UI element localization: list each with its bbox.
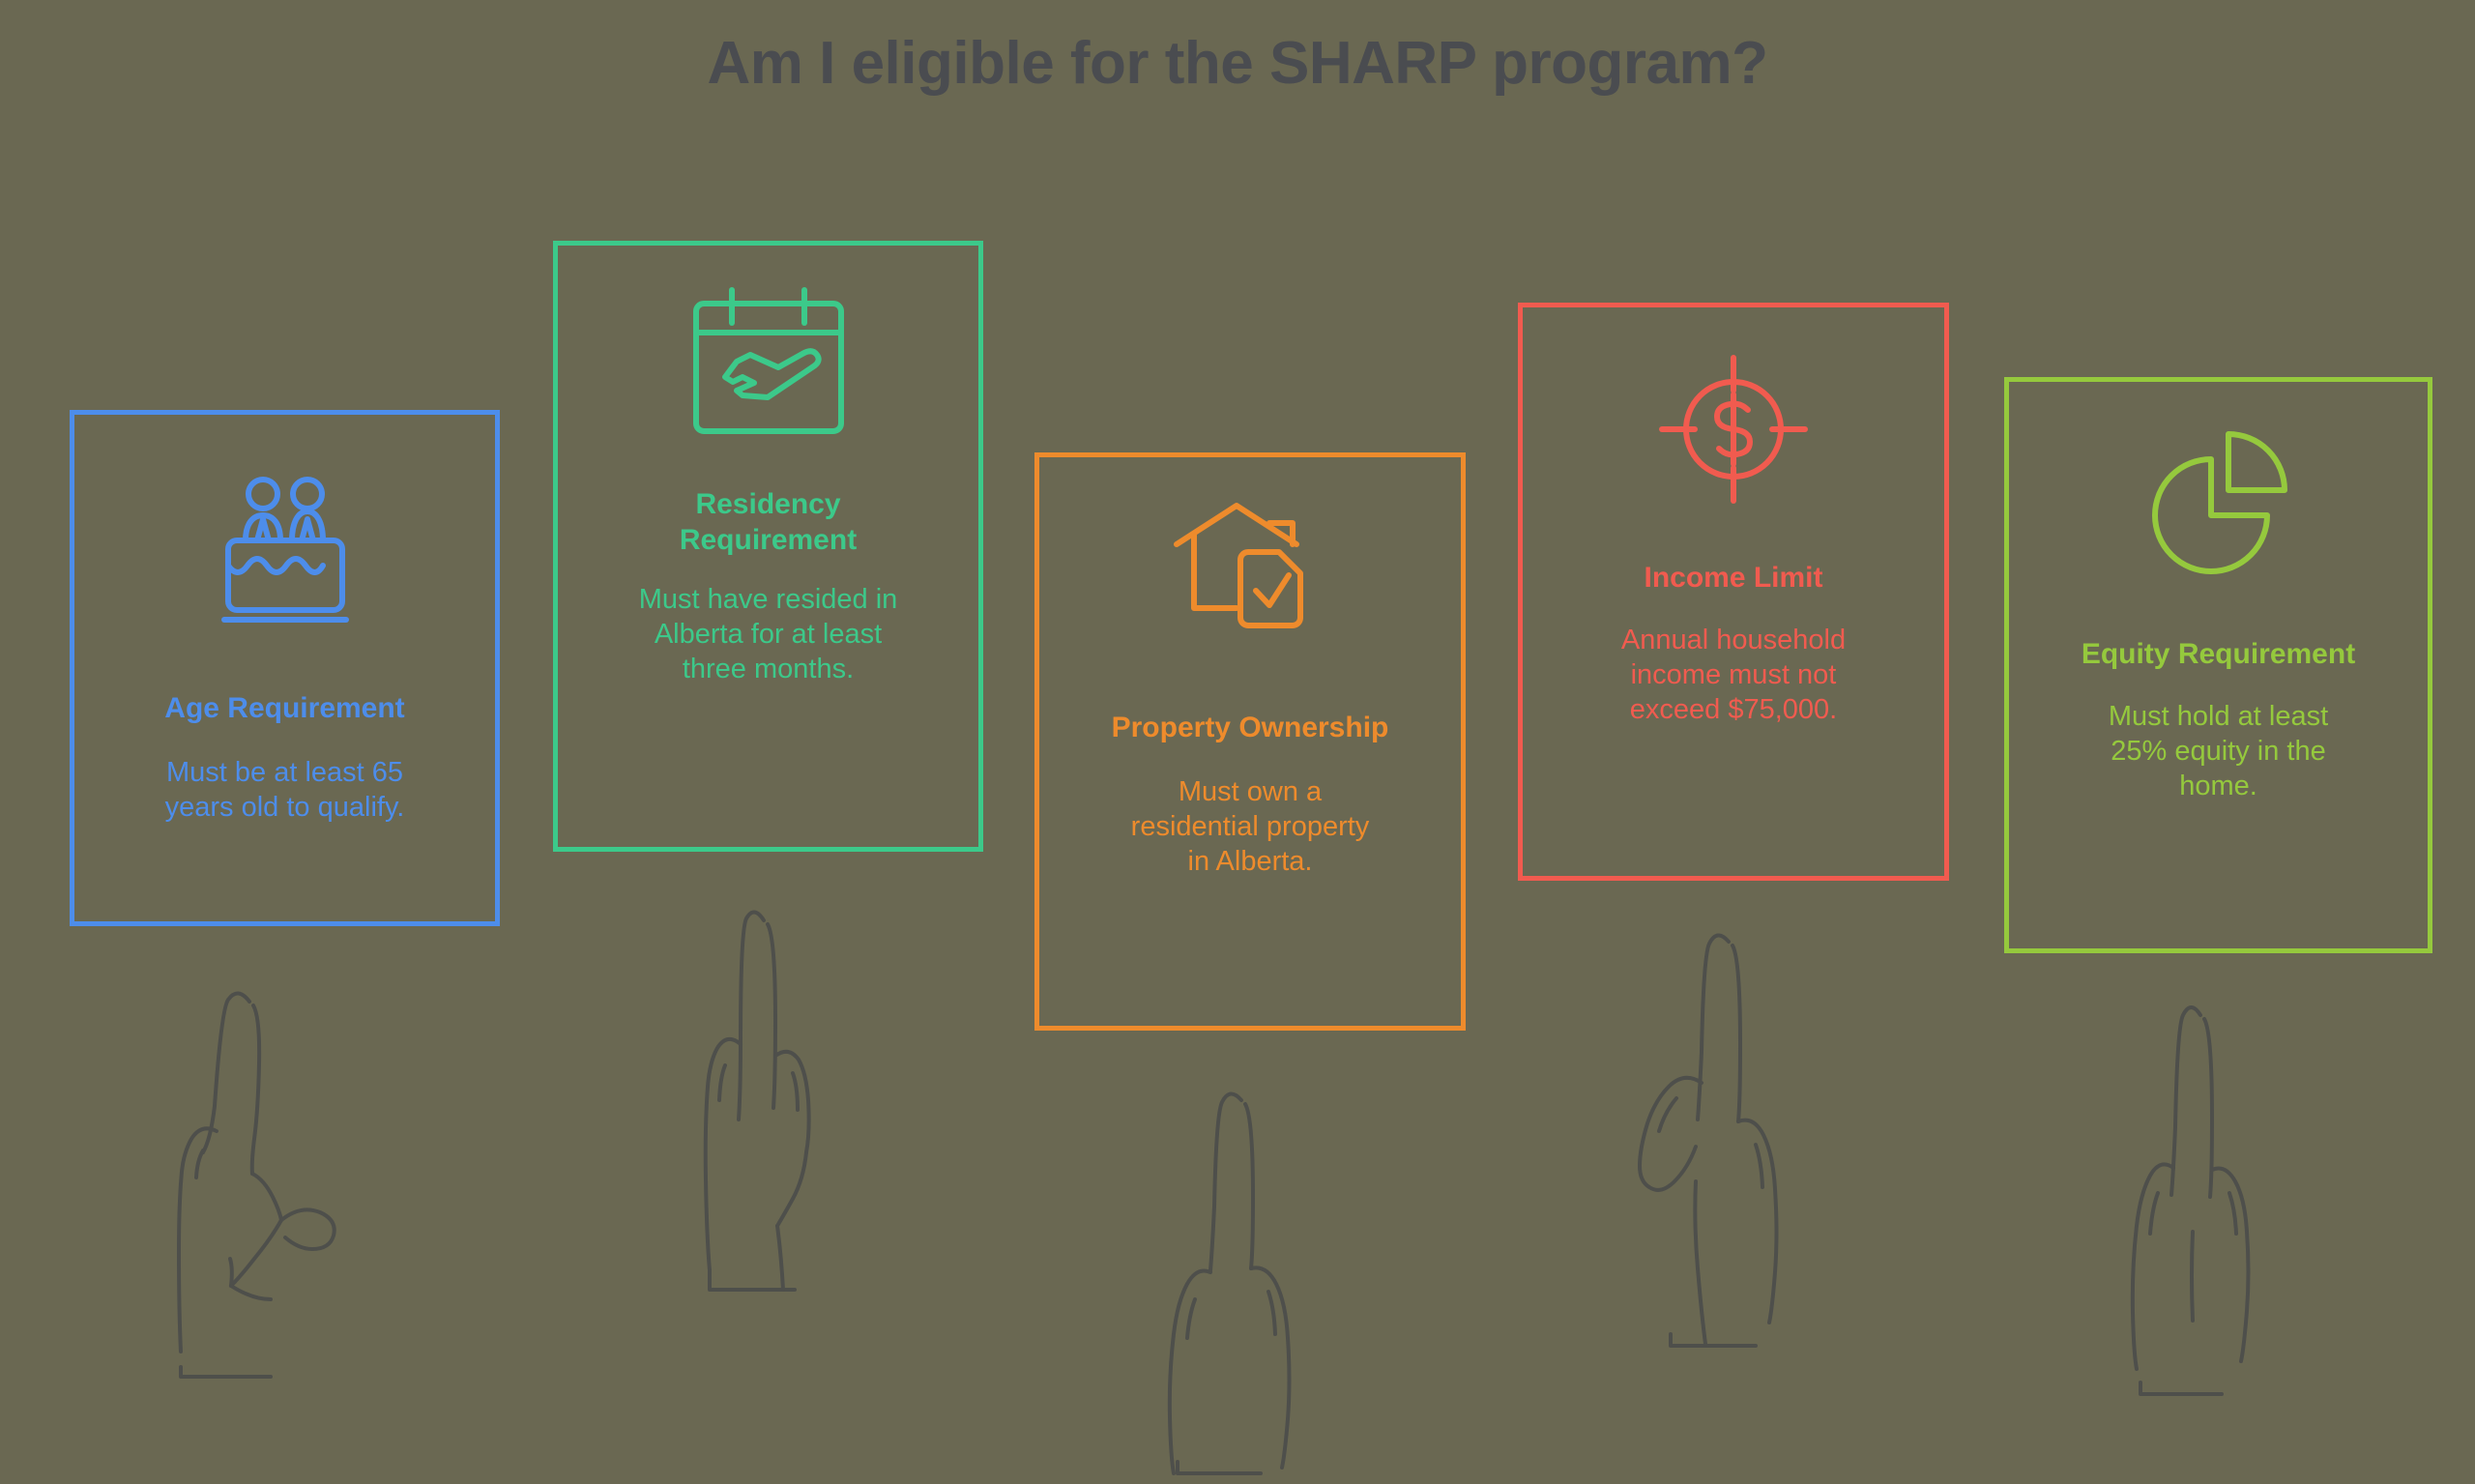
pointing-hand-icon [1141, 1083, 1363, 1484]
card-residency-requirement[interactable]: Residency Requirement Must have resided … [553, 241, 983, 852]
birthday-cake-icon [203, 473, 367, 627]
card-title: Age Requirement [164, 691, 404, 727]
card-body: Must be at least 65 years old to qualify… [165, 756, 405, 826]
pointing-hand-icon [667, 899, 889, 1334]
card-body: Annual household income must not exceed … [1621, 624, 1846, 728]
card-title: Income Limit [1644, 561, 1822, 597]
card-title: Property Ownership [1112, 711, 1389, 746]
pie-chart-icon [2134, 428, 2303, 583]
card-income-limit[interactable]: Income Limit Annual household income mus… [1518, 303, 1949, 881]
page-title: Am I eligible for the SHARP program? [0, 31, 2475, 97]
card-body: Must hold at least 25% equity in the hom… [2109, 700, 2328, 804]
infographic-canvas: Am I eligible for the SHARP program? Age… [0, 0, 2475, 1484]
card-title: Residency Requirement [680, 487, 857, 558]
pointing-hand-icon [106, 967, 387, 1382]
target-dollar-icon [1656, 352, 1811, 507]
card-age-requirement[interactable]: Age Requirement Must be at least 65 year… [70, 410, 500, 926]
pointing-hand-icon [2108, 996, 2301, 1407]
card-title: Equity Requirement [2082, 637, 2355, 673]
calendar-airplane-icon [679, 286, 858, 441]
card-body: Must own a residential property in Alber… [1131, 775, 1370, 880]
card-body: Must have resided in Alberta for at leas… [639, 583, 898, 687]
card-property-ownership[interactable]: Property Ownership Must own a residentia… [1034, 452, 1466, 1031]
house-check-document-icon [1161, 502, 1340, 656]
card-equity-requirement[interactable]: Equity Requirement Must hold at least 25… [2004, 377, 2432, 953]
pointing-hand-icon [1586, 928, 1856, 1353]
